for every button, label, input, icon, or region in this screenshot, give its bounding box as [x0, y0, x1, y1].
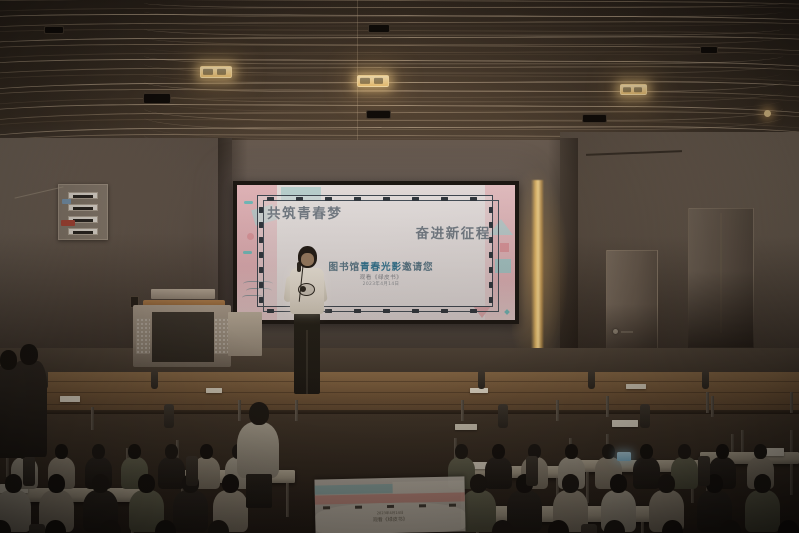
- slide-cyan-dash: [243, 251, 252, 254]
- lectern-body: [152, 312, 214, 362]
- chair-back[interactable]: [702, 370, 709, 389]
- presentation-slide: 共筑青春梦 奋进新征程 图书馆青春光影邀请您 观看《绿皮书》 2023年4月14…: [237, 185, 515, 320]
- handout-paper[interactable]: [60, 396, 80, 402]
- distribution-panel[interactable]: [58, 184, 108, 240]
- desk-leg: [641, 522, 644, 533]
- audience-head: [565, 444, 578, 459]
- audience-head: [92, 444, 105, 459]
- desk-leg: [295, 400, 298, 421]
- audience-torso: [158, 457, 185, 489]
- ceiling-spotlight-off: [366, 110, 391, 119]
- chair-back[interactable]: [186, 456, 198, 486]
- standing-head: [0, 350, 17, 370]
- audience-head: [128, 444, 141, 459]
- ceiling-spotlight-lit: [200, 66, 232, 78]
- audience-head: [754, 444, 767, 459]
- lectern-speaker-grille-right: [214, 318, 228, 354]
- panel-blue-label: [62, 199, 71, 204]
- standing-torso: [0, 366, 26, 458]
- standing-head: [249, 402, 269, 425]
- door-right-rear-shading: [688, 208, 754, 348]
- chair-back[interactable]: [164, 404, 174, 428]
- desk-leg: [606, 396, 609, 417]
- audience-head: [470, 474, 487, 493]
- audience-head: [602, 444, 615, 459]
- standing-torso: [237, 422, 279, 478]
- audience-head: [200, 444, 213, 459]
- ceiling-downlight: [764, 110, 771, 117]
- ceiling-spotlight-lit: [357, 75, 389, 87]
- chair-back[interactable]: [498, 404, 508, 428]
- ceiling-baffle: [0, 0, 799, 152]
- chair-back[interactable]: [151, 370, 158, 389]
- audience-head: [165, 444, 178, 459]
- chair-back[interactable]: [581, 524, 597, 533]
- audience-head: [138, 474, 155, 493]
- audience-head: [455, 444, 468, 459]
- phone-screen[interactable]: [617, 452, 631, 461]
- audience-head: [716, 444, 729, 459]
- chair-back[interactable]: [526, 456, 538, 486]
- audience-head: [222, 474, 239, 493]
- desk-leg: [461, 400, 464, 421]
- ceiling-glow: [20, 0, 780, 152]
- audience-torso: [173, 490, 208, 532]
- ceiling-spotlight-off: [143, 93, 171, 104]
- desk-leg: [286, 483, 289, 517]
- handout-paper[interactable]: [455, 424, 477, 430]
- audience-torso: [461, 490, 496, 532]
- audience-head: [610, 474, 627, 493]
- slide-pink-dot: [247, 233, 254, 240]
- handout-paper[interactable]: [206, 388, 222, 393]
- handout-paper[interactable]: [626, 384, 646, 389]
- desk-leg: [556, 400, 559, 421]
- slide-title-line-1: 共筑青春梦: [267, 206, 343, 222]
- desk-leg: [91, 407, 94, 430]
- slide-title: 共筑青春梦 奋进新征程: [267, 205, 493, 244]
- handout-paper[interactable]: [612, 420, 638, 427]
- slide-title-line-2: 奋进新征程: [267, 225, 493, 245]
- audience-head: [48, 474, 65, 493]
- ceiling-spotlight-off: [44, 26, 64, 34]
- ceiling-spotlight-off: [700, 46, 718, 54]
- chair-back[interactable]: [29, 524, 45, 533]
- audience-head: [678, 444, 691, 459]
- desk-leg: [711, 396, 714, 417]
- projection-screen[interactable]: 共筑青春梦 奋进新征程 图书馆青春光影邀请您 观看《绿皮书》 2023年4月14…: [233, 181, 519, 324]
- desk-leg: [790, 464, 793, 495]
- audience-head: [92, 474, 109, 493]
- audience-head: [562, 474, 579, 493]
- standing-legs: [246, 474, 272, 508]
- audience-torso: [507, 490, 542, 532]
- audience-torso: [671, 457, 698, 489]
- audience-head: [55, 444, 68, 459]
- chair-back[interactable]: [698, 456, 710, 486]
- slide-subtitle-prefix: 图书馆: [329, 262, 360, 273]
- chair-back[interactable]: [478, 370, 485, 389]
- audience-torso: [485, 457, 512, 489]
- desk-leg: [706, 392, 709, 413]
- audience-head: [640, 444, 653, 459]
- audience-head: [5, 474, 22, 493]
- audience-torso: [633, 457, 660, 489]
- desk-leg: [790, 392, 793, 413]
- chair-back[interactable]: [23, 456, 35, 486]
- ceiling-spotlight-off: [582, 114, 607, 123]
- slide-subtitle-suffix: 邀请您: [402, 262, 433, 273]
- audience-head: [492, 444, 505, 459]
- presenter-leg-split: [306, 330, 308, 394]
- audience-torso: [745, 490, 780, 532]
- chair-back[interactable]: [640, 404, 650, 428]
- audience-head: [658, 474, 675, 493]
- panel-red-label: [61, 220, 75, 226]
- desk-leg: [238, 400, 241, 421]
- amber-wall-light: [531, 180, 544, 355]
- side-cabinet: [228, 312, 262, 356]
- chair-back[interactable]: [588, 370, 595, 389]
- lectern-shelf: [151, 289, 215, 299]
- projected-light-on-desk: 2023年4月14日 观看《绿皮书》: [314, 476, 465, 533]
- audience-head: [754, 474, 771, 493]
- ceiling-spotlight-off: [368, 24, 390, 33]
- lecture-hall-scene: 共筑青春梦 奋进新征程 图书馆青春光影邀请您 观看《绿皮书》 2023年4月14…: [0, 0, 799, 533]
- ceiling-spotlight-lit: [620, 84, 647, 95]
- standing-head: [20, 344, 38, 365]
- slide-cyan-dash: [244, 201, 253, 204]
- slide-subtitle-highlight: 青春光影: [360, 262, 402, 273]
- lectern-speaker-grille-left: [136, 318, 150, 354]
- slide-pink-square: [500, 243, 509, 252]
- presenter-face: [301, 253, 314, 266]
